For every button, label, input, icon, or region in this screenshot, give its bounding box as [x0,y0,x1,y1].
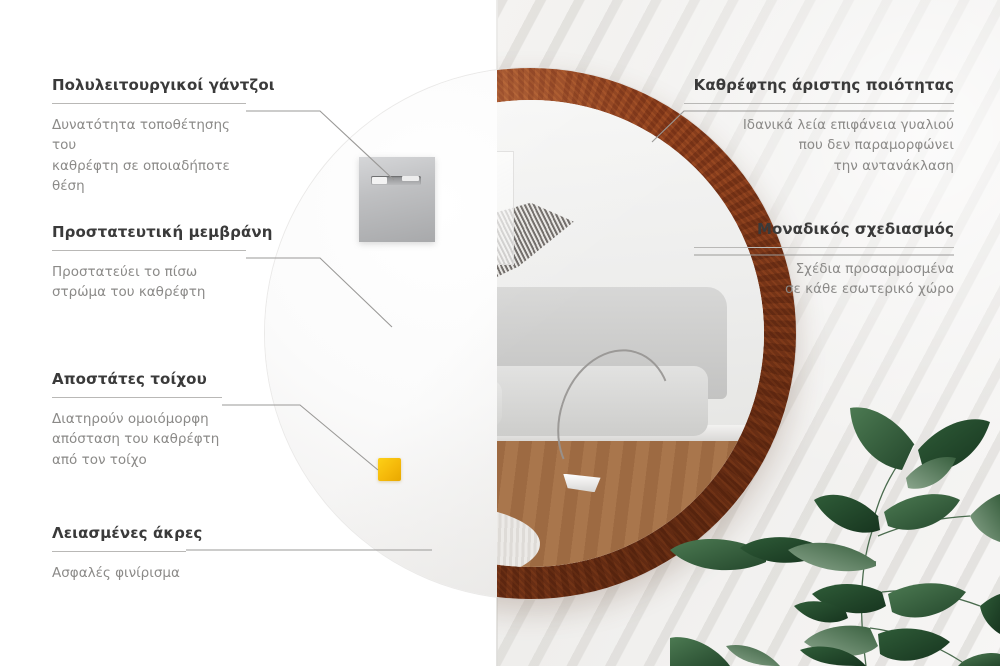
callout-desc: Δυνατότητα τοποθέτησης του καθρέφτη σε ο… [52,115,246,196]
callout-title: Πολυλειτουργικοί γάντζοι [52,76,246,94]
callout-desc: Ασφαλές φινίρισμα [52,563,186,583]
callout-desc: Σχέδια προσαρμοσμένα σε κάθε εσωτερικό χ… [694,259,954,300]
infographic-canvas: Πολυλειτουργικοί γάντζοι Δυνατότητα τοπο… [0,0,1000,666]
callout-rule [684,103,954,104]
callout-title: Λειασμένες άκρες [52,524,186,542]
callout-rule [52,250,246,251]
callout-desc: Προστατεύει το πίσω στρώμα του καθρέφτη [52,262,246,303]
callout-top-quality-mirror: Καθρέφτης άριστης ποιότητας Ιδανικά λεία… [684,76,954,176]
callout-rule [52,103,246,104]
wall-spacer-detail [378,458,401,481]
callout-desc: Ιδανικά λεία επιφάνεια γυαλιού που δεν π… [684,115,954,176]
callout-protective-membrane: Προστατευτική μεμβράνη Προστατεύει το πί… [52,223,246,303]
callout-title: Προστατευτική μεμβράνη [52,223,246,241]
callout-rule [694,247,954,248]
hook-plate-detail [359,157,435,242]
callout-title: Αποστάτες τοίχου [52,370,222,388]
callout-title: Μοναδικός σχεδιασμός [694,220,954,238]
callout-rule [52,551,186,552]
callout-title: Καθρέφτης άριστης ποιότητας [684,76,954,94]
callout-rule [52,397,222,398]
hook-slot-icon [371,176,421,185]
callout-desc: Διατηρούν ομοιόμορφη απόσταση του καθρέφ… [52,409,222,470]
callout-multifunctional-hooks: Πολυλειτουργικοί γάντζοι Δυνατότητα τοπο… [52,76,246,196]
callout-smoothed-edges: Λειασμένες άκρες Ασφαλές φινίρισμα [52,524,186,583]
callout-wall-spacers: Αποστάτες τοίχου Διατηρούν ομοιόμορφη απ… [52,370,222,470]
callout-unique-design: Μοναδικός σχεδιασμός Σχέδια προσαρμοσμέν… [694,220,954,300]
